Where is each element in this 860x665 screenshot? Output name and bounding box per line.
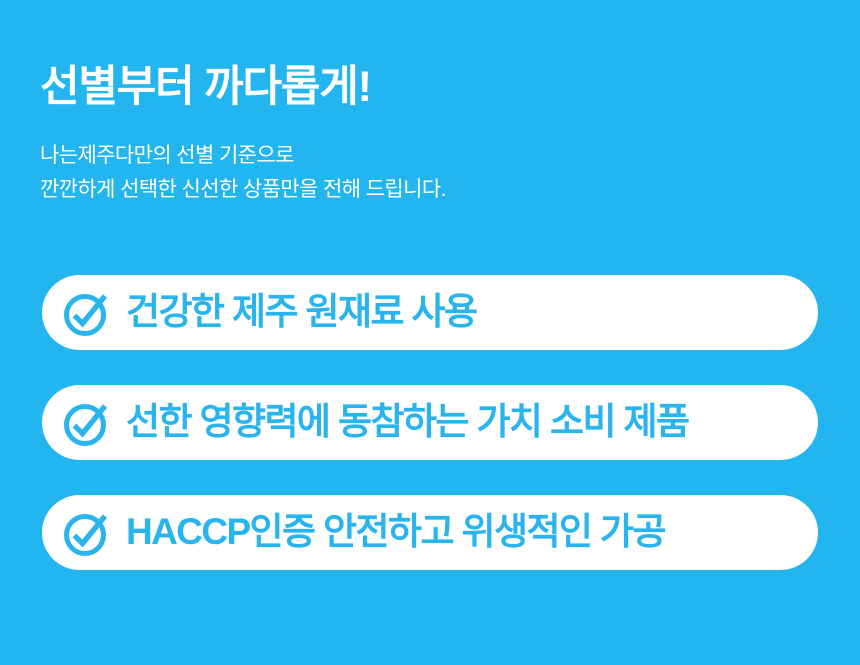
feature-label: 선한 영향력에 동참하는 가치 소비 제품 [112, 403, 688, 443]
check-circle-icon [60, 507, 112, 559]
check-circle-icon [60, 287, 112, 339]
subtitle-line-2: 깐깐하게 선택한 신선한 상품만을 전해 드립니다. [40, 173, 820, 207]
feature-card-2: 선한 영향력에 동참하는 가치 소비 제품 [42, 385, 818, 460]
check-circle-icon [60, 397, 112, 449]
promo-banner: 선별부터 까다롭게! 나는제주다만의 선별 기준으로 깐깐하게 선택한 신선한 … [0, 0, 860, 665]
header-block: 선별부터 까다롭게! 나는제주다만의 선별 기준으로 깐깐하게 선택한 신선한 … [40, 62, 820, 207]
feature-label: HACCP인증 안전하고 위생적인 가공 [112, 513, 665, 553]
subtitle-line-1: 나는제주다만의 선별 기준으로 [40, 139, 820, 173]
feature-card-3: HACCP인증 안전하고 위생적인 가공 [42, 495, 818, 570]
feature-list: 건강한 제주 원재료 사용 선한 영향력에 동참하는 가치 소비 제품 HACC… [42, 275, 818, 570]
subtitle: 나는제주다만의 선별 기준으로 깐깐하게 선택한 신선한 상품만을 전해 드립니… [40, 113, 820, 207]
feature-card-1: 건강한 제주 원재료 사용 [42, 275, 818, 350]
page-title: 선별부터 까다롭게! [40, 62, 820, 113]
feature-label: 건강한 제주 원재료 사용 [112, 293, 476, 333]
